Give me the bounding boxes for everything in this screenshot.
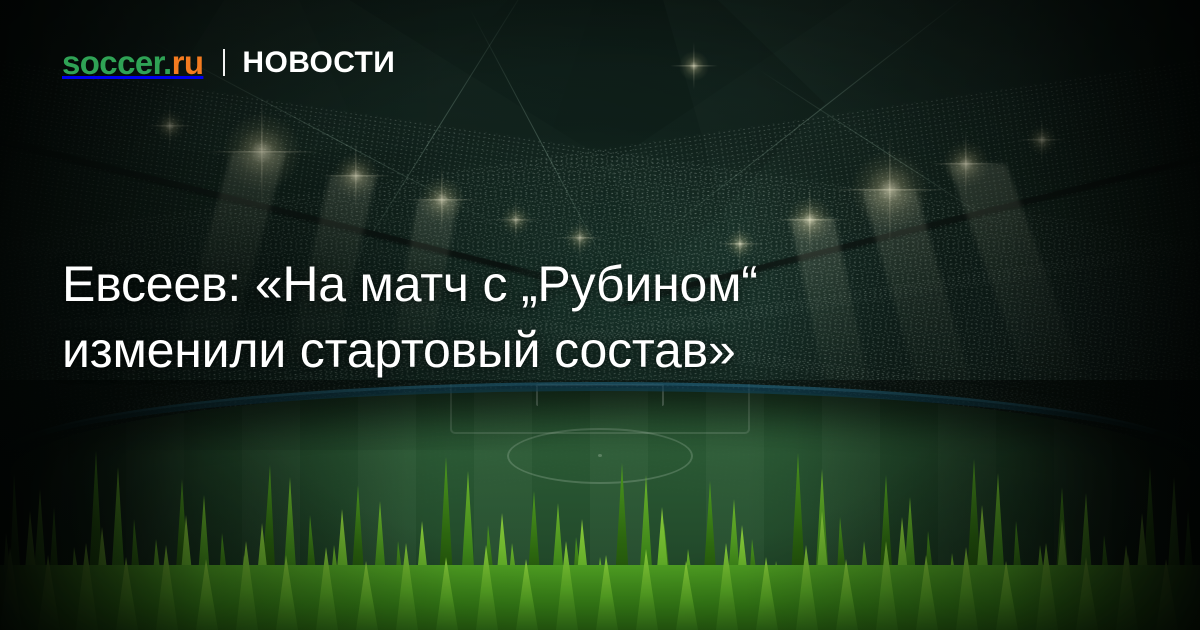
- logo-name-text: soccer: [62, 44, 163, 81]
- headline-line-2: изменили стартовый состав»: [62, 317, 962, 383]
- logo-dot-text: .: [163, 44, 172, 81]
- logo-tld-text: ru: [172, 44, 204, 81]
- site-logo[interactable]: soccer.ru: [62, 46, 203, 79]
- news-share-card: soccer.ru НОВОСТИ Евсеев: «На матч с „Ру…: [0, 0, 1200, 630]
- site-header: soccer.ru НОВОСТИ: [62, 46, 395, 79]
- header-separator: [223, 49, 225, 76]
- article-headline: Евсеев: «На матч с „Рубином“ изменили ст…: [62, 251, 962, 383]
- headline-line-1: Евсеев: «На матч с „Рубином“: [62, 251, 962, 317]
- section-label: НОВОСТИ: [242, 48, 395, 78]
